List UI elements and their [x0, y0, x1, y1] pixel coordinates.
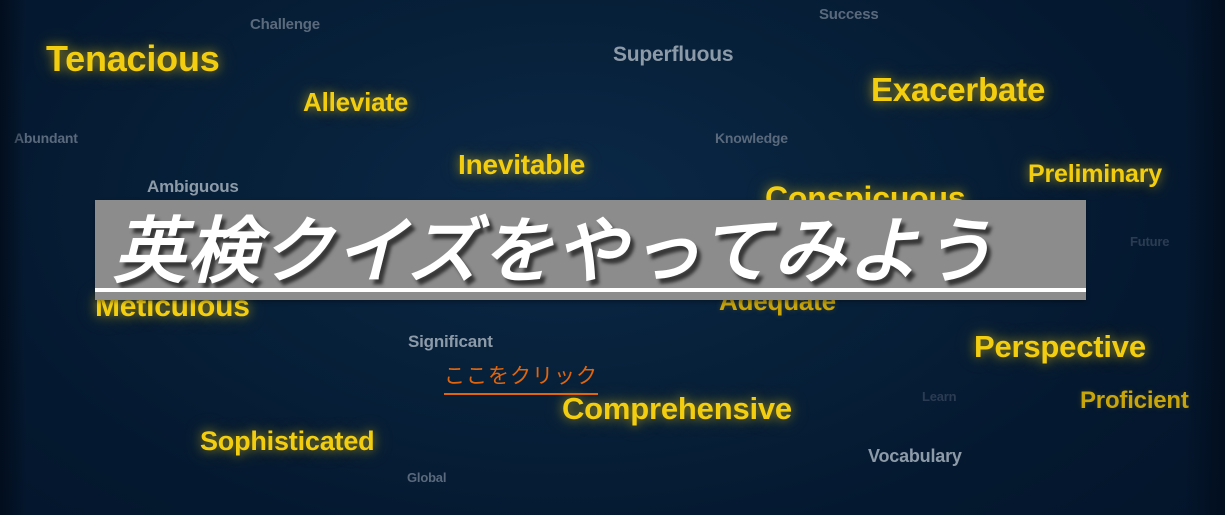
banner-title-text: 英検クイズをやってみよう — [113, 202, 995, 286]
cloud-word: Global — [407, 471, 446, 484]
cloud-word: Vocabulary — [868, 447, 962, 465]
title-banner: 英検クイズをやってみよう — [95, 200, 1086, 300]
banner-footer-strip — [95, 292, 1086, 300]
cloud-word: Challenge — [250, 17, 320, 32]
cloud-word: Comprehensive — [562, 393, 792, 424]
cloud-word: Success — [819, 7, 878, 22]
cloud-word: Abundant — [14, 131, 78, 145]
cloud-word: Alleviate — [303, 89, 408, 115]
cloud-word: Preliminary — [1028, 162, 1162, 187]
cloud-word: Knowledge — [715, 131, 788, 145]
cloud-word: Tenacious — [46, 41, 220, 77]
cloud-word: Exacerbate — [871, 73, 1045, 106]
cloud-word: Significant — [408, 333, 493, 350]
word-cloud-canvas: ChallengeSuccessTenaciousSuperfluousExac… — [0, 0, 1225, 515]
cloud-word: Future — [1130, 235, 1169, 248]
cloud-word: Learn — [922, 390, 956, 403]
click-here-link[interactable]: ここをクリック — [444, 360, 598, 395]
cloud-word: Perspective — [974, 331, 1146, 362]
cloud-word: Inevitable — [458, 151, 585, 179]
cloud-word: Superfluous — [613, 44, 733, 65]
cloud-word: Proficient — [1080, 389, 1189, 413]
cloud-word: Sophisticated — [200, 428, 374, 455]
